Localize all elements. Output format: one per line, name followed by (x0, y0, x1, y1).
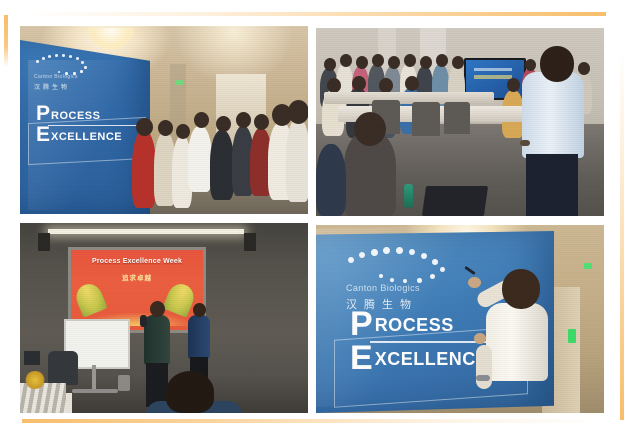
photo-bottom-left: Process Excellence Week 追求卓越 (20, 223, 308, 413)
logo-brand-cn: 汉腾生物 (34, 82, 112, 91)
display-screen-text (474, 68, 512, 84)
logo-dot-arc (34, 54, 112, 69)
collage-canvas: Canton Biologics 汉腾生物 P ROCESS E XCELLEN… (0, 0, 628, 439)
exit-sign-icon (176, 80, 183, 85)
signer-torso (486, 303, 548, 381)
person-white-2 (188, 126, 212, 192)
striped-seating (20, 383, 66, 413)
foreground-attendee-left (316, 144, 346, 216)
process-excellence-lockup: P ROCESS E XCELLENCE (36, 106, 146, 144)
presenter-watch (520, 140, 530, 146)
office-chair (412, 102, 440, 136)
presenter-head (540, 46, 574, 82)
frame-rule-left (4, 15, 8, 67)
ceiling-speaker-left (38, 233, 50, 251)
exit-sign-icon (584, 263, 592, 269)
whiteboard-base (72, 389, 118, 393)
frame-rule-bottom (22, 419, 606, 423)
speaker-head (150, 301, 165, 317)
slide-title-en: Process Excellence Week (71, 258, 203, 265)
slide-title-cn: 追求卓越 (71, 272, 203, 282)
logo-brand-en: Canton Biologics (34, 74, 112, 80)
assistant-torso (188, 315, 210, 359)
strip-light-icon (48, 229, 244, 234)
logo-dot-arc (346, 247, 470, 273)
signer-head (502, 269, 540, 309)
side-monitor (24, 351, 40, 365)
wall-panel-indicator-icon (568, 329, 576, 343)
office-chair (48, 351, 78, 385)
photo-top-right (316, 28, 604, 216)
frame-rule-top (24, 12, 606, 16)
assistant-head (193, 303, 206, 317)
presenter-torso (522, 72, 584, 158)
foreground-audience-head (166, 371, 214, 413)
speaker-torso (144, 315, 170, 365)
frame-rule-right (620, 48, 624, 420)
canton-biologics-logo: Canton Biologics 汉腾生物 (346, 247, 470, 312)
signer-watch (476, 375, 490, 381)
scene-auditorium-talk: Process Excellence Week 追求卓越 (20, 223, 308, 413)
laptop (422, 186, 488, 216)
logo-brand-en: Canton Biologics (346, 283, 470, 293)
signer-hand-lower (474, 333, 486, 344)
scene-corridor-banner: Canton Biologics 汉腾生物 P ROCESS E XCELLEN… (20, 26, 308, 214)
scene-banner-signing: Canton Biologics 汉腾生物 P ROCESS E XCELLEN… (316, 225, 604, 413)
office-chair (444, 102, 470, 134)
photo-bottom-right: Canton Biologics 汉腾生物 P ROCESS E XCELLEN… (316, 225, 604, 413)
ceiling-speaker-right (244, 233, 256, 251)
presenter-legs (526, 154, 578, 216)
person-red-jacket (132, 130, 156, 208)
signer-hand-upper (468, 277, 481, 288)
pe-initial-p: P (350, 311, 373, 338)
signer-arm-lower (476, 345, 492, 389)
scene-training-room (316, 28, 604, 216)
flower-arrangement (24, 371, 46, 389)
person-dark-1 (210, 130, 234, 200)
pe-outline-shape (28, 117, 146, 165)
person-white-4 (286, 118, 308, 202)
waste-bin (118, 375, 130, 391)
microphone-icon (140, 315, 147, 327)
canton-biologics-logo: Canton Biologics 汉腾生物 (34, 54, 112, 91)
photo-top-left: Canton Biologics 汉腾生物 P ROCESS E XCELLEN… (20, 26, 308, 214)
water-bottle (404, 184, 413, 208)
whiteboard-stand (92, 365, 96, 391)
pe-initial-p: P (36, 106, 50, 123)
